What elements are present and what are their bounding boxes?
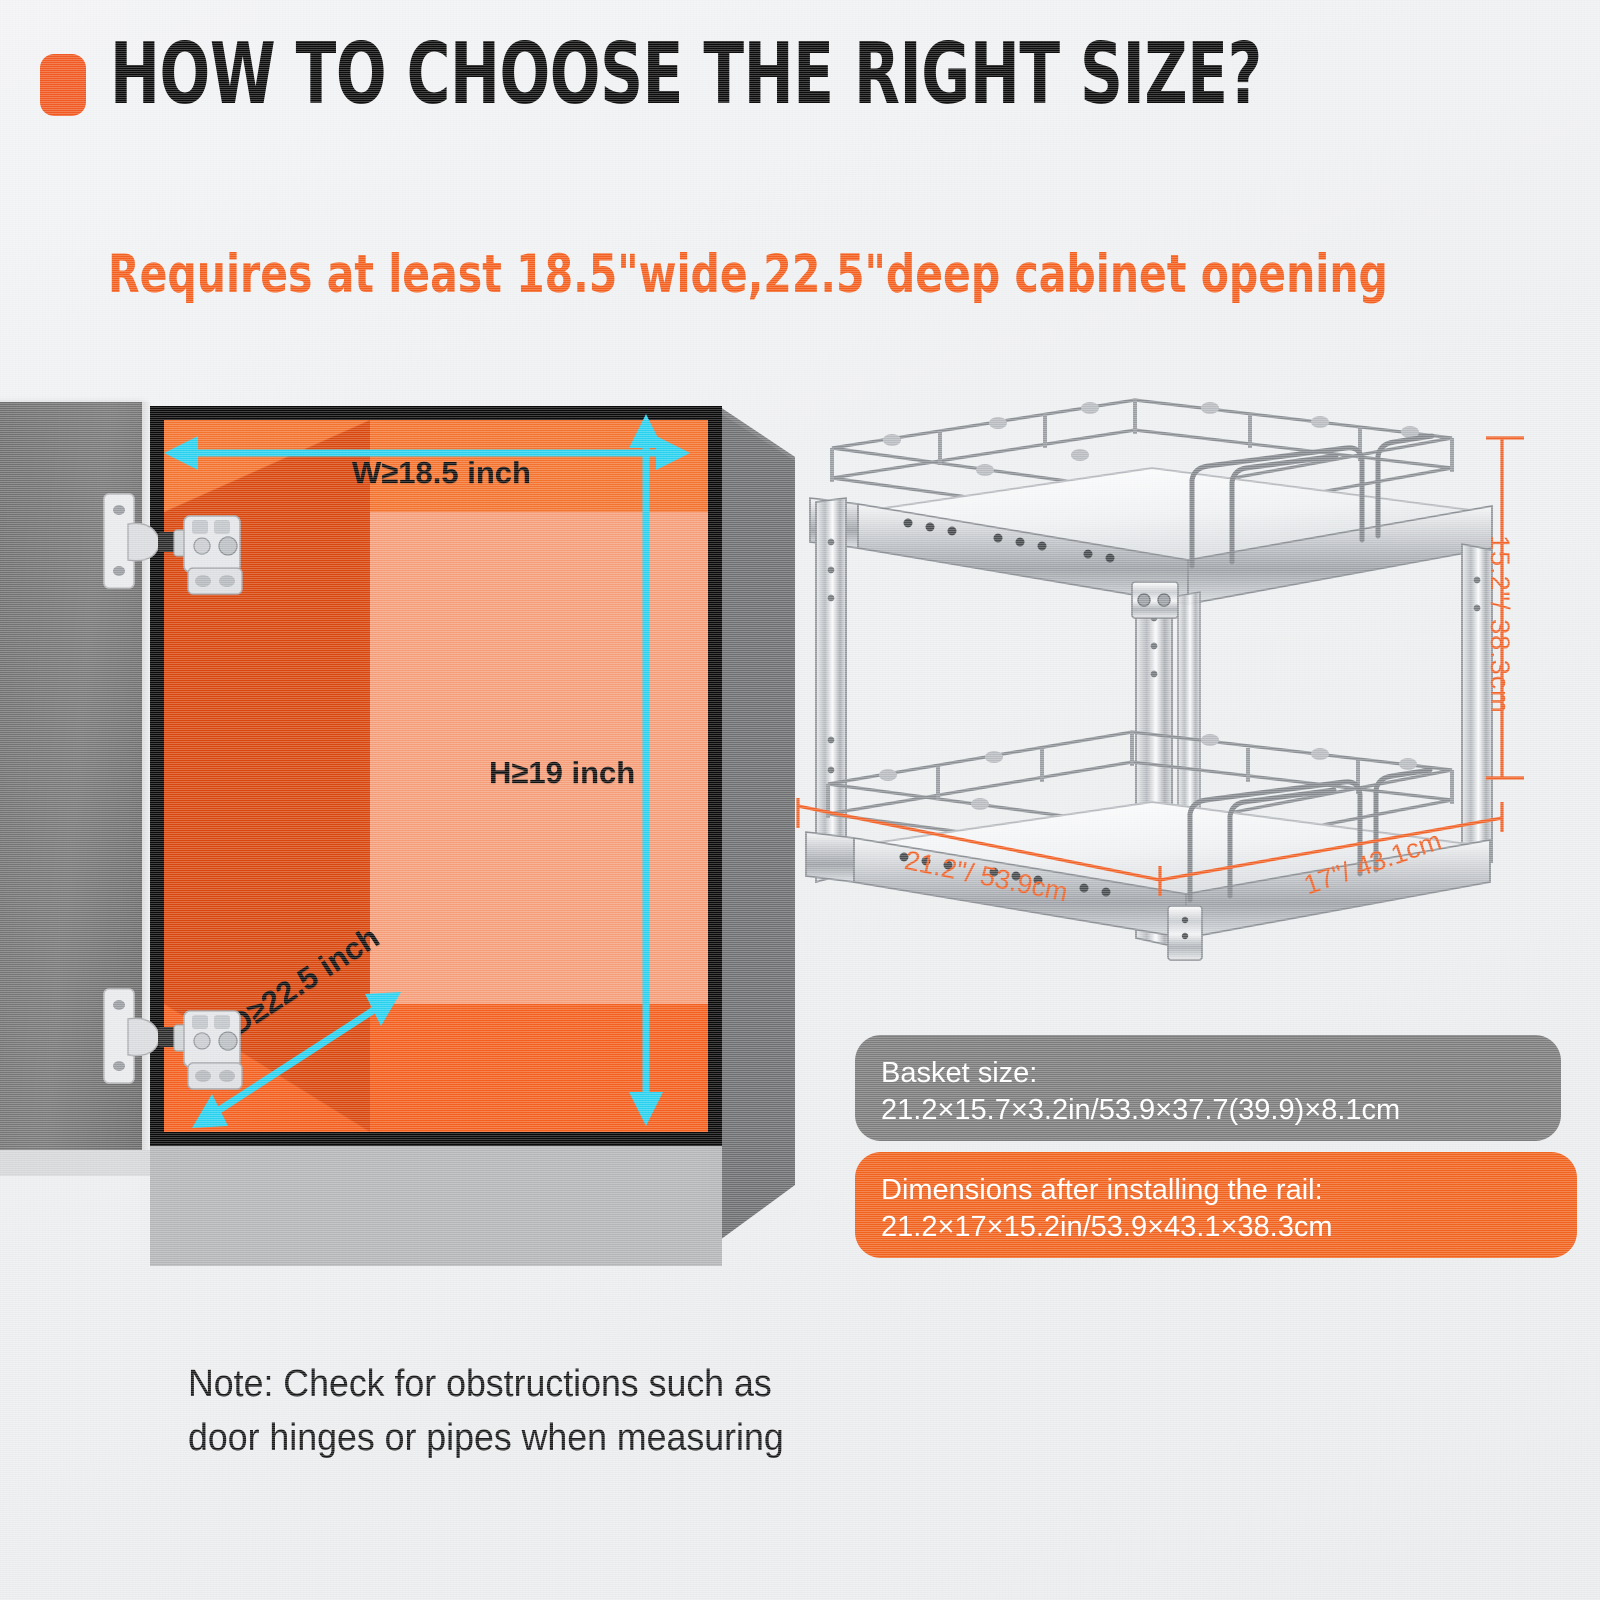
cabinet-width-label: W≥18.5 inch xyxy=(352,455,531,491)
installed-dimensions-box: Dimensions after installing the rail: 21… xyxy=(855,1152,1577,1258)
product-height-dimension-label: 15.2"/ 38.3cm xyxy=(1484,535,1515,714)
basket-size-box: Basket size: 21.2×15.7×3.2in/53.9×37.7(3… xyxy=(855,1035,1561,1141)
measuring-note: Note: Check for obstructions such as doo… xyxy=(188,1358,846,1466)
cabinet-plinth xyxy=(150,1146,722,1266)
basket-size-title: Basket size: xyxy=(881,1055,1535,1092)
requirement-subtitle: Requires at least 18.5"wide,22.5"deep ca… xyxy=(108,248,1388,301)
orange-square-bullet-icon xyxy=(40,54,86,116)
cabinet-hinge-bottom-icon xyxy=(96,983,256,1095)
measuring-note-line-2: door hinges or pipes when measuring xyxy=(188,1412,846,1466)
installed-dimensions-title: Dimensions after installing the rail: xyxy=(881,1172,1551,1209)
measuring-note-line-1: Note: Check for obstructions such as xyxy=(188,1358,846,1412)
installed-dimensions-value: 21.2×17×15.2in/53.9×43.1×38.3cm xyxy=(881,1209,1551,1246)
product-dimension-lines xyxy=(780,380,1580,960)
infographic-canvas: HOW TO CHOOSE THE RIGHT SIZE? Requires a… xyxy=(0,0,1600,1600)
basket-size-value: 21.2×15.7×3.2in/53.9×37.7(39.9)×8.1cm xyxy=(881,1092,1535,1129)
page-title: HOW TO CHOOSE THE RIGHT SIZE? xyxy=(110,32,1262,117)
cabinet-hinge-top-icon xyxy=(96,488,256,600)
cabinet-height-label: H≥19 inch xyxy=(489,755,635,791)
door-base-shadow xyxy=(0,1150,152,1176)
